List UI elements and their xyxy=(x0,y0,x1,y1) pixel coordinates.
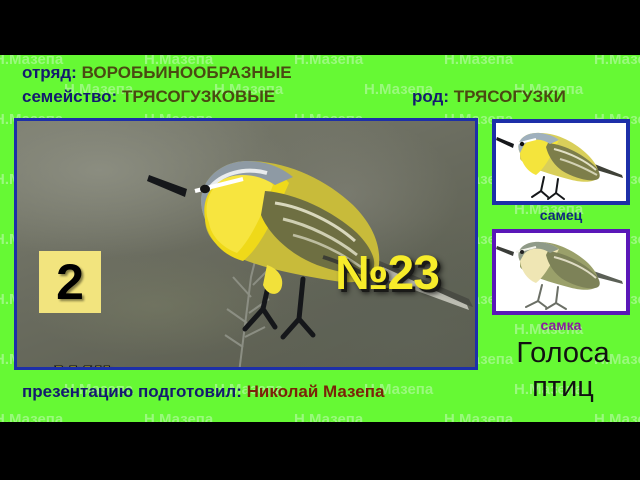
watermark-text: Н.Мазепа xyxy=(594,411,640,422)
main-bird-photo: 2 №23 Жёлтая Трясогузка xyxy=(14,118,478,370)
taxonomy-genus: род: ТРЯСОГУЗКИ xyxy=(412,87,566,107)
taxonomy-family-value: ТРЯСОГУЗКОВЫЕ xyxy=(122,87,275,106)
slide-canvas: Н.МазепаН.МазепаН.МазепаН.МазепаН.Мазепа… xyxy=(0,0,640,480)
male-bird-thumbnail xyxy=(492,119,630,205)
male-caption: самец xyxy=(492,207,630,223)
female-caption: самка xyxy=(492,317,630,333)
taxonomy-genus-label: род: xyxy=(412,87,449,106)
voices-of-birds-label: Голоса птиц xyxy=(492,336,634,404)
taxonomy-family-label: семейство: xyxy=(22,87,117,106)
taxonomy-order: отряд: ВОРОБЬИНООБРАЗНЫЕ xyxy=(22,63,292,83)
male-wagtail-illustration xyxy=(496,123,626,201)
taxonomy-genus-value: ТРЯСОГУЗКИ xyxy=(454,87,566,106)
species-title-line1: Жёлтая xyxy=(55,361,204,370)
presentation-credit: презентацию подготовил: Николай Мазепа xyxy=(22,382,384,402)
slide-badge-number: 2 xyxy=(39,251,101,313)
voices-line1: Голоса xyxy=(492,336,634,370)
watermark-text: Н.Мазепа xyxy=(144,411,213,422)
voices-line2: птиц xyxy=(492,370,634,404)
taxonomy-order-label: отряд: xyxy=(22,63,77,82)
taxonomy-family: семейство: ТРЯСОГУЗКОВЫЕ xyxy=(22,87,275,107)
taxonomy-order-value: ВОРОБЬИНООБРАЗНЫЕ xyxy=(82,63,292,82)
taxonomy-header: отряд: ВОРОБЬИНООБРАЗНЫЕ семейство: ТРЯС… xyxy=(0,55,640,115)
watermark-text: Н.Мазепа xyxy=(0,411,63,422)
female-wagtail-illustration xyxy=(496,233,626,311)
watermark-text: Н.Мазепа xyxy=(444,411,513,422)
credit-author: Николай Мазепа xyxy=(247,382,385,401)
slide-number: №23 xyxy=(335,250,439,298)
female-bird-thumbnail xyxy=(492,229,630,315)
credit-label: презентацию подготовил: xyxy=(22,382,242,401)
watermark-text: Н.Мазепа xyxy=(294,411,363,422)
